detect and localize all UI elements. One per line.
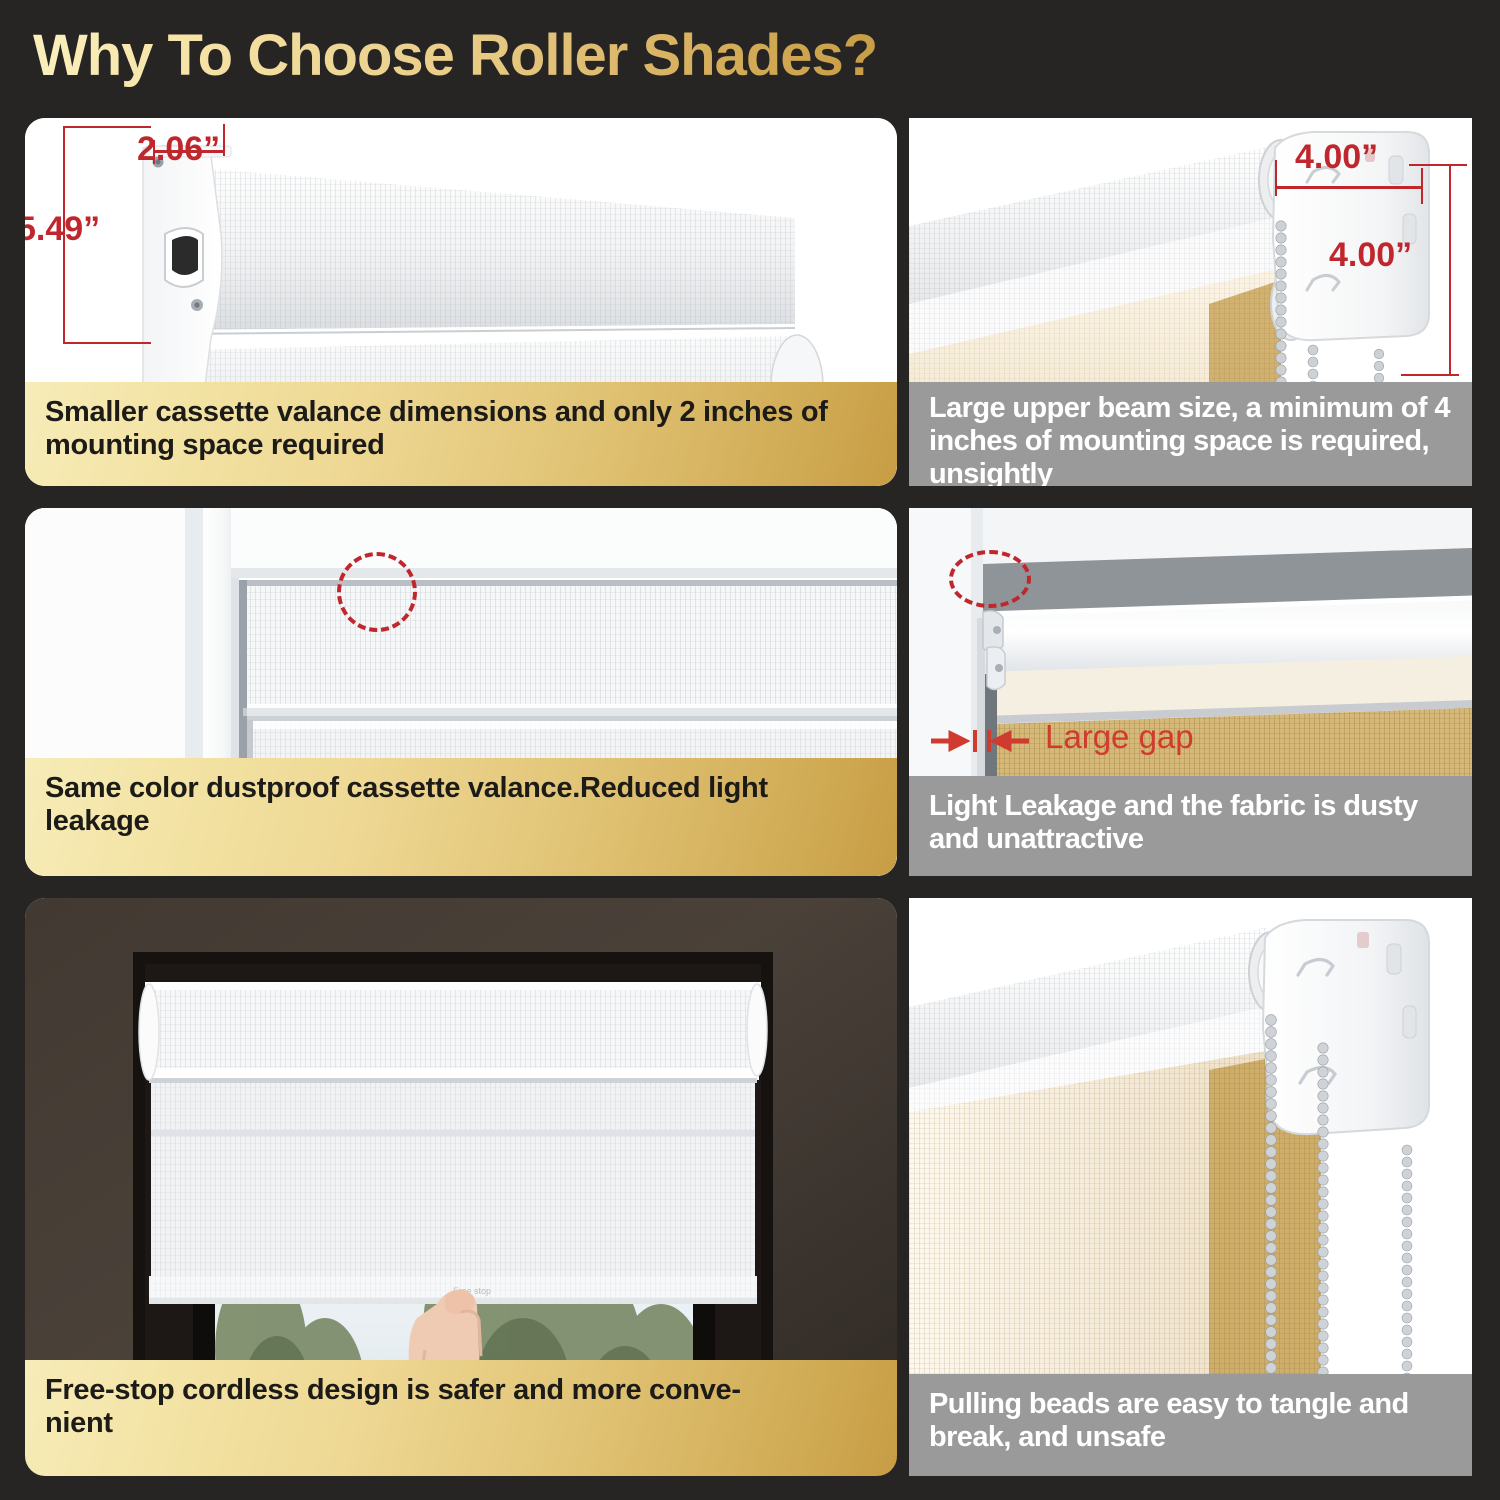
beam-width-left-tick [1275,160,1277,196]
panel-mid-left: smaller gap Same color dustproof cassett… [25,508,897,876]
panel-bottom-right: Pulling beads are easy to tangle and bre… [909,898,1472,1476]
beam-width-label: 4.00” [1295,138,1378,177]
panel-bottom-left: Free stop Free-stop cordless design is s… [25,898,897,1476]
large-gap-arrows [923,724,1043,758]
beam-height-label: 4.00” [1329,236,1412,275]
beam-height-top-tick [1409,164,1467,166]
panel-caption-bottom-right: Pulling beads are easy to tangle and bre… [909,1374,1472,1476]
panel-caption-mid-left: Same color dustproof cassette valance.Re… [25,758,897,876]
panel-top-left: 2.06” 5.49” Smaller cassette valance dim… [25,118,897,486]
beam-width-right-tick [1421,168,1423,204]
gap-highlight-circle [337,552,417,632]
panel-caption-bottom-left: Free-stop cordless design is safer and m… [25,1360,897,1476]
beam-height-line [1449,164,1451,376]
panel-mid-right: Large gap Light Leakage and the fabric i… [909,508,1472,876]
panel-caption-top-left: Smaller cassette valance dimensions and … [25,382,897,486]
width-dimension-tick [223,124,225,156]
height-dimension-label: 5.49” [25,210,100,249]
width-dimension-label: 2.06” [137,130,220,169]
beam-width-line [1275,186,1423,189]
panel-top-right: 4.00” 4.00” Large upper beam size, a min… [909,118,1472,486]
panel-caption-top-right: Large upper beam size, a minimum of 4 in… [909,382,1472,486]
panel-caption-mid-right: Light Leakage and the fabric is dusty an… [909,776,1472,876]
beam-height-bottom-tick [1401,374,1459,376]
height-dimension-top-tick [63,126,151,128]
large-gap-highlight-circle [949,550,1031,608]
large-gap-label: Large gap [1045,718,1194,756]
page-title: Why To Choose Roller Shades? [33,22,877,89]
height-dimension-bottom-tick [63,342,151,344]
